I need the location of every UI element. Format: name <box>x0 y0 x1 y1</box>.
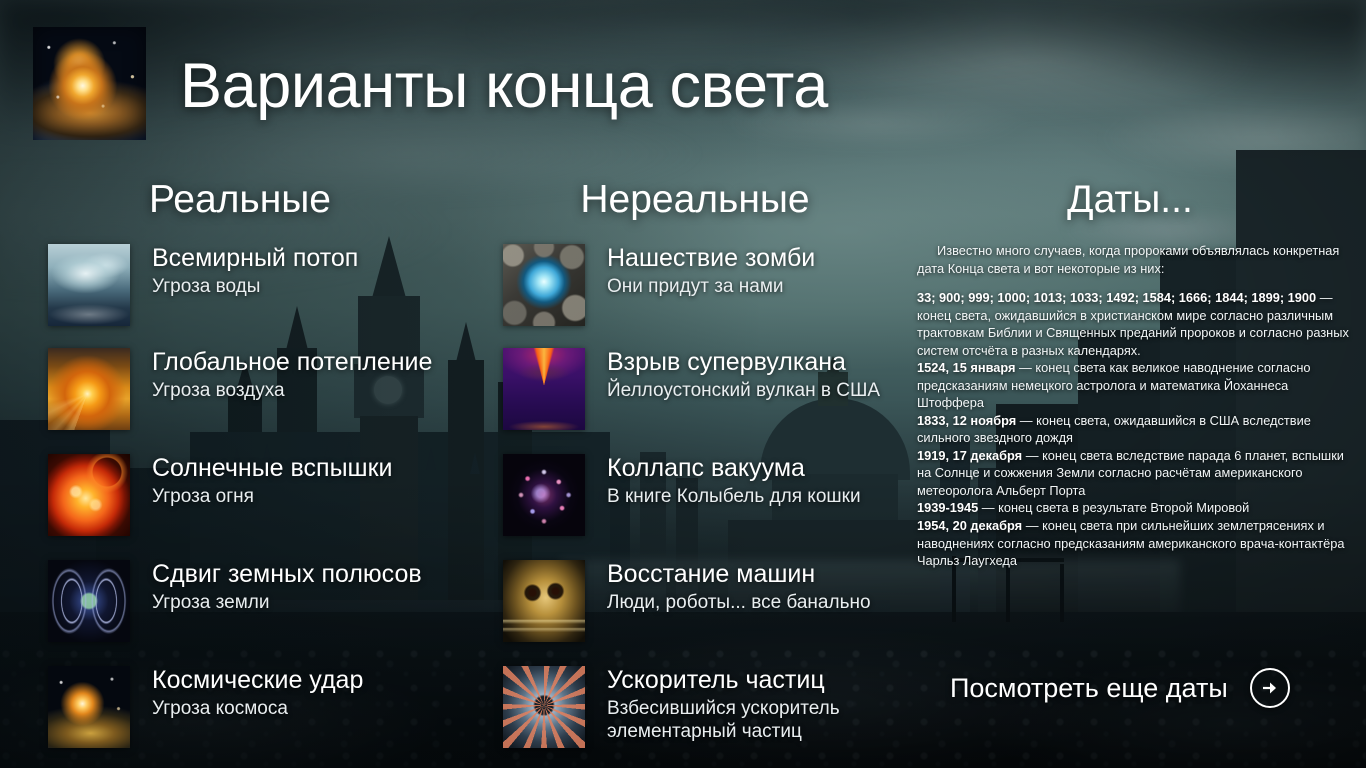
burning-sunset-icon <box>48 348 130 430</box>
date-entry-date: 1919, 17 декабря <box>917 448 1022 463</box>
column-dates: Даты... Известно много случаев, когда пр… <box>910 180 1350 219</box>
dates-intro: Известно много случаев, когда пророками … <box>917 242 1349 277</box>
date-entry: 1954, 20 декабря — конец света при сильн… <box>917 517 1349 570</box>
column-heading-real: Реальные <box>20 180 460 219</box>
volcano-icon <box>503 348 585 430</box>
list-item[interactable]: Коллапс вакуума В книге Колыбель для кош… <box>503 454 913 540</box>
exploding-planet-icon <box>33 27 146 140</box>
date-entry: 1833, 12 ноября — конец света, ожидавший… <box>917 412 1349 447</box>
list-item-title: Нашествие зомби <box>607 245 815 272</box>
date-entry: 1939-1945 — конец света в результате Вто… <box>917 499 1349 517</box>
date-entry-text: — конец света в результате Второй Мирово… <box>978 500 1249 515</box>
zombie-horde-icon <box>503 244 585 326</box>
list-item[interactable]: Всемирный потоп Угроза воды <box>48 244 458 330</box>
column-heading-dates: Даты... <box>910 180 1350 219</box>
list-item-subtitle: Взбесившийся ускоритель элементарный час… <box>607 697 879 743</box>
dates-list: 33; 900; 999; 1000; 1013; 1033; 1492; 15… <box>917 289 1349 570</box>
list-item-title: Восстание машин <box>607 561 871 588</box>
list-item-subtitle: Йеллоустонский вулкан в США <box>607 379 880 402</box>
app-window: Варианты конца света Реальные Всемирный … <box>0 0 1366 768</box>
list-item[interactable]: Ускоритель частиц Взбесившийся ускорител… <box>503 666 913 752</box>
tidal-wave-icon <box>48 244 130 326</box>
list-item[interactable]: Нашествие зомби Они придут за нами <box>503 244 913 330</box>
list-item-title: Космические удар <box>152 667 363 694</box>
list-item-title: Солнечные вспышки <box>152 455 393 482</box>
list-item-subtitle: Угроза огня <box>152 485 393 508</box>
more-dates-button[interactable]: Посмотреть еще даты <box>950 668 1290 708</box>
dates-body: Известно много случаев, когда пророками … <box>917 242 1349 570</box>
date-entry: 33; 900; 999; 1000; 1013; 1033; 1492; 15… <box>917 289 1349 359</box>
list-item-title: Взрыв супервулкана <box>607 349 880 376</box>
list-item-title: Сдвиг земных полюсов <box>152 561 422 588</box>
list-item[interactable]: Взрыв супервулкана Йеллоустонский вулкан… <box>503 348 913 434</box>
vacuum-collapse-icon <box>503 454 585 536</box>
list-item[interactable]: Глобальное потепление Угроза воздуха <box>48 348 458 434</box>
robot-skull-icon <box>503 560 585 642</box>
list-item-subtitle: Угроза воды <box>152 275 358 298</box>
page-title: Варианты конца света <box>180 50 828 122</box>
date-entry-date: 1833, 12 ноября <box>917 413 1016 428</box>
list-item-title: Ускоритель частиц <box>607 667 879 694</box>
column-heading-unreal: Нереальные <box>475 180 915 219</box>
solar-flare-icon <box>48 454 130 536</box>
arrow-right-circle-icon[interactable] <box>1250 668 1290 708</box>
list-item-title: Всемирный потоп <box>152 245 358 272</box>
date-entry-date: 33; 900; 999; 1000; 1013; 1033; 1492; 15… <box>917 290 1316 305</box>
date-entry: 1919, 17 декабря — конец света вследстви… <box>917 447 1349 500</box>
list-item-subtitle: Угроза земли <box>152 591 422 614</box>
magnetic-field-icon <box>48 560 130 642</box>
particle-collider-icon <box>503 666 585 748</box>
date-entry-date: 1954, 20 декабря <box>917 518 1022 533</box>
list-item-title: Коллапс вакуума <box>607 455 861 482</box>
list-item[interactable]: Солнечные вспышки Угроза огня <box>48 454 458 540</box>
date-entry: 1524, 15 января — конец света как велико… <box>917 359 1349 412</box>
list-item-title: Глобальное потепление <box>152 349 432 376</box>
more-dates-label: Посмотреть еще даты <box>950 673 1228 704</box>
list-item-subtitle: Они придут за нами <box>607 275 815 298</box>
column-unreal: Нереальные Нашествие зомби Они придут за… <box>475 180 915 219</box>
list-item-subtitle: Люди, роботы... все банально <box>607 591 871 614</box>
list-item[interactable]: Сдвиг земных полюсов Угроза земли <box>48 560 458 646</box>
date-entry-date: 1939-1945 <box>917 500 978 515</box>
list-item-subtitle: В книге Колыбель для кошки <box>607 485 861 508</box>
list-item[interactable]: Восстание машин Люди, роботы... все бана… <box>503 560 913 646</box>
list-item-subtitle: Угроза космоса <box>152 697 363 720</box>
list-item[interactable]: Космические удар Угроза космоса <box>48 666 458 752</box>
date-entry-date: 1524, 15 января <box>917 360 1016 375</box>
column-real: Реальные Всемирный потоп Угроза воды Гло… <box>20 180 460 219</box>
asteroid-impact-icon <box>48 666 130 748</box>
list-item-subtitle: Угроза воздуха <box>152 379 432 402</box>
